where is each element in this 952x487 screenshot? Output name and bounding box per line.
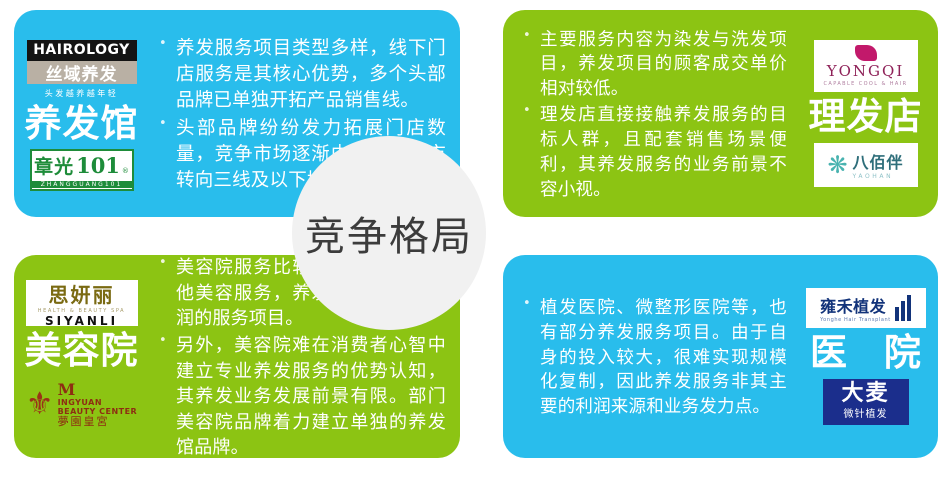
zhangguang-logo-main: 章光 101 ® <box>34 152 129 179</box>
brand-column-barbershop: YONGQI CAPABLE COOL & HAIR 理发店 ❋ 八佰伴 YAO… <box>793 10 938 217</box>
siyanli-logo-en: SIYANLI <box>45 314 118 327</box>
zhangguang-101-logo: 章光 101 ® ZHANGGUANG101 <box>30 149 134 191</box>
zhangguang-logo-strip: ZHANGGUANG101 <box>32 181 132 188</box>
hairology-siyu-logo: HAIROLOGY 丝域养发 头发越养越年轻 <box>27 40 137 99</box>
mengyuan-logo-m: M <box>58 382 76 399</box>
damai-logo: 大麦 微针植发 <box>823 379 909 425</box>
brand-column-beauty-salon: 思妍丽 HEALTH & BEAUTY SPA SIYANLI 美容院 ⚜ M … <box>14 255 149 458</box>
mengyuan-beauty-center-logo: ⚜ M INGYUAN BEAUTY CENTER 夢園皇宮 <box>19 377 145 433</box>
yaohan-star-icon: ❋ <box>827 153 847 177</box>
siyanli-logo: 思妍丽 HEALTH & BEAUTY SPA SIYANLI <box>26 280 138 326</box>
text-column-barbershop: 主要服务内容为染发与洗发项目，养发项目的顾客成交单价相对较低。 理发店直接接触养… <box>503 10 793 217</box>
list-item: 养发服务项目类型多样，线下门店服务是其核心优势，多个头部品牌已单独开拓产品销售线… <box>155 36 446 115</box>
panel-hospital: 植发医院、微整形医院等，也有部分养发服务项目。由于自身的投入较大，很难实现规模化… <box>503 255 938 458</box>
yonghe-logo-en: Yonghe Hair Transplant <box>820 317 891 323</box>
hairology-logo-tagline: 头发越养越年轻 <box>27 84 137 99</box>
registered-mark-icon: ® <box>122 167 129 175</box>
mengyuan-crest-icon: ⚜ <box>26 389 54 420</box>
yaohan-logo: ❋ 八佰伴 YAOHAN <box>814 143 918 187</box>
brand-column-hair-care-salon: HAIROLOGY 丝域养发 头发越养越年轻 养发馆 章光 101 ® ZHAN… <box>14 10 149 217</box>
hairology-logo-en-text: HAIROLOGY <box>27 40 137 61</box>
yaohan-logo-cn: 八佰伴 <box>853 149 904 173</box>
category-title-beauty-salon: 美容院 <box>25 332 139 371</box>
mengyuan-logo-cn: 夢園皇宮 <box>58 416 110 428</box>
bullet-list-hospital: 植发医院、微整形医院等，也有部分养发服务项目。由于自身的投入较大，很难实现规模化… <box>519 296 787 421</box>
yonghe-bars-icon <box>895 295 911 321</box>
yongqi-logo-sub: CAPABLE COOL & HAIR <box>824 81 908 87</box>
category-title-barbershop: 理发店 <box>809 98 923 137</box>
mengyuan-text-block: M INGYUAN BEAUTY CENTER 夢園皇宮 <box>58 382 138 427</box>
damai-logo-sub: 微针植发 <box>844 405 888 420</box>
yongqi-mark-icon <box>855 45 877 61</box>
zhangguang-logo-number: 101 <box>76 153 120 178</box>
brand-column-hospital: 雍禾植发 Yonghe Hair Transplant 医 院 大麦 微针植发 <box>793 255 938 458</box>
yonghe-logo-cn: 雍禾植发 <box>820 293 886 317</box>
list-item: 主要服务内容为染发与洗发项目，养发项目的顾客成交单价相对较低。 <box>519 28 787 103</box>
list-item: 植发医院、微整形医院等，也有部分养发服务项目。由于自身的投入较大，很难实现规模化… <box>519 296 787 420</box>
page-title: 竞争格局 <box>305 204 473 262</box>
category-title-hospital: 医 院 <box>798 334 933 373</box>
list-item: 另外，美容院难在消费者心智中建立专业养发服务的优势认知，其养发业务发展前景有限。… <box>155 333 446 458</box>
yonghe-text-block: 雍禾植发 Yonghe Hair Transplant <box>820 293 891 323</box>
center-circle: 竞争格局 <box>292 136 486 330</box>
zhangguang-logo-cn: 章光 <box>34 152 74 179</box>
damai-logo-cn: 大麦 <box>841 383 889 405</box>
category-title-hair-care-salon: 养发馆 <box>25 105 139 144</box>
yongqi-logo: YONGQI CAPABLE COOL & HAIR <box>814 40 918 92</box>
competitive-landscape-infographic: HAIROLOGY 丝域养发 头发越养越年轻 养发馆 章光 101 ® ZHAN… <box>0 0 952 487</box>
yaohan-logo-en: YAOHAN <box>853 173 894 180</box>
panel-barbershop: 主要服务内容为染发与洗发项目，养发项目的顾客成交单价相对较低。 理发店直接接触养… <box>503 10 938 217</box>
yaohan-text-block: 八佰伴 YAOHAN <box>853 149 904 180</box>
text-column-hospital: 植发医院、微整形医院等，也有部分养发服务项目。由于自身的投入较大，很难实现规模化… <box>503 255 793 458</box>
hairology-logo-cn-text: 丝域养发 <box>27 61 137 84</box>
yongqi-logo-name: YONGQI <box>827 62 905 80</box>
list-item: 理发店直接接触养发服务的目标人群，且配套销售场景便利，其养发服务的业务前景不容小… <box>519 103 787 202</box>
siyanli-logo-cn: 思妍丽 <box>49 280 115 308</box>
bullet-list-barbershop: 主要服务内容为染发与洗发项目，养发项目的顾客成交单价相对较低。 理发店直接接触养… <box>519 28 787 204</box>
yonghe-hair-transplant-logo: 雍禾植发 Yonghe Hair Transplant <box>806 288 926 328</box>
